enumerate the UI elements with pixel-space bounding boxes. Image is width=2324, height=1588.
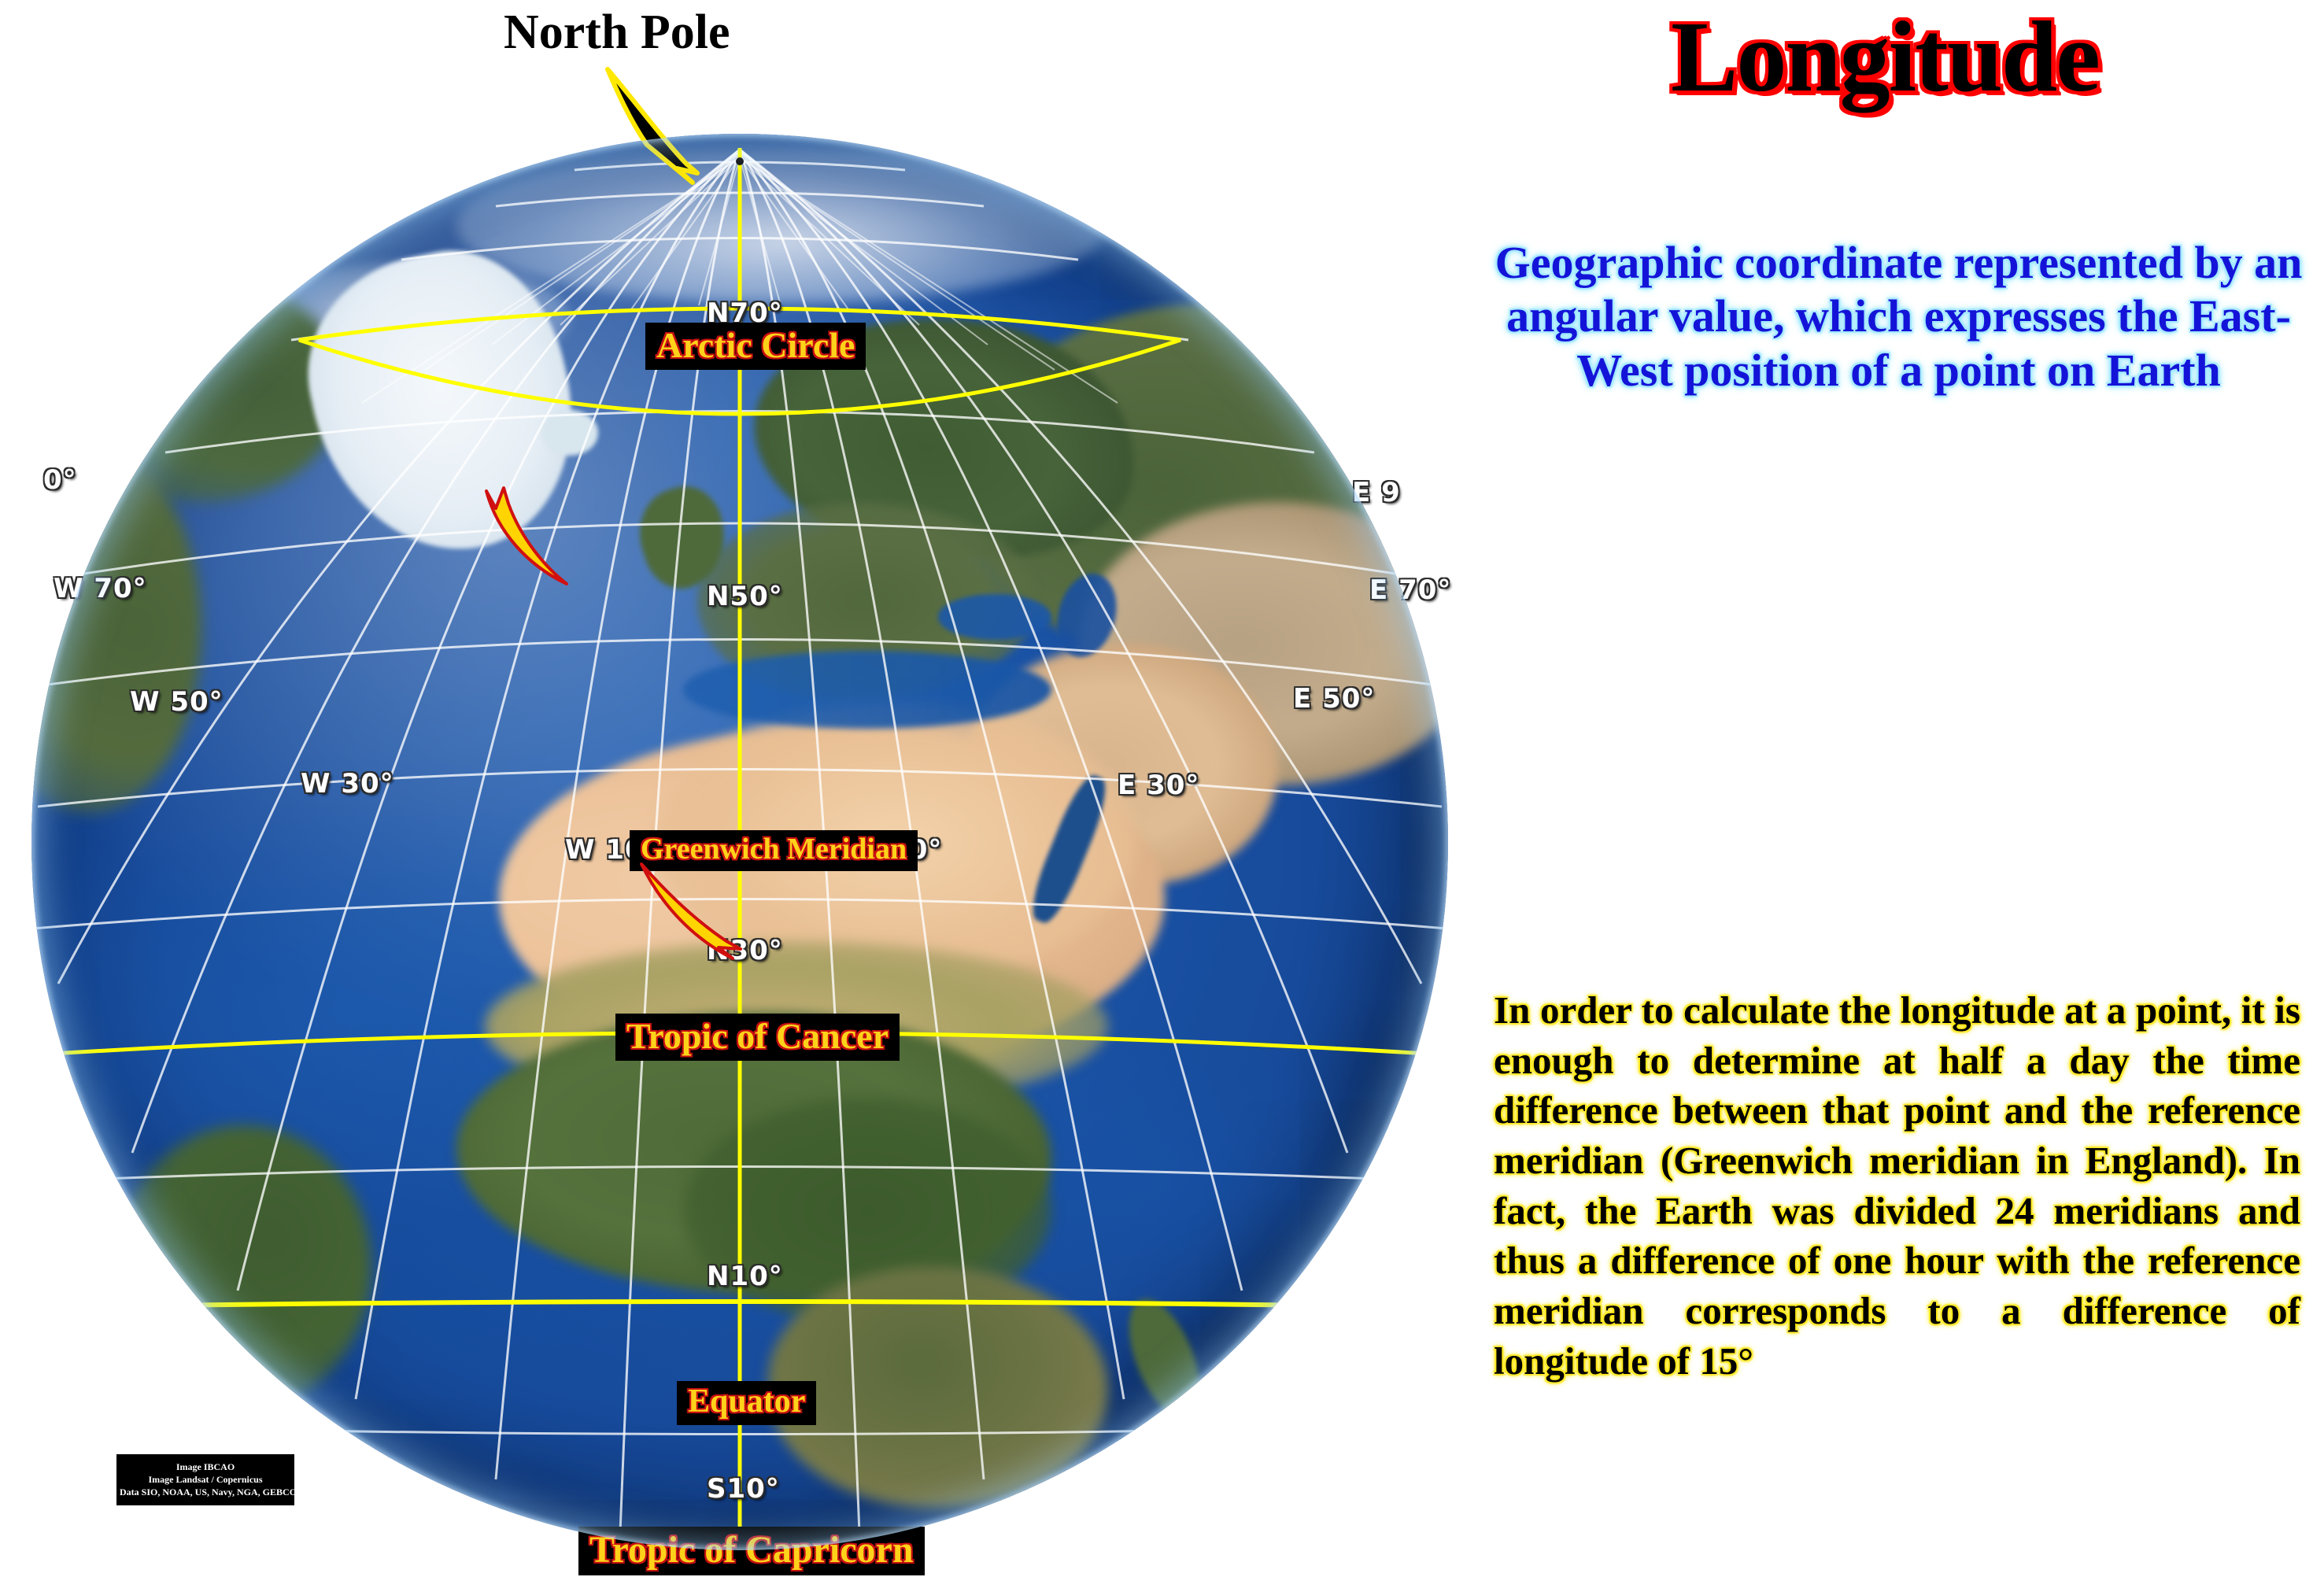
attribution-line-1: Image IBCAO [120, 1461, 291, 1473]
page-title: Longitude [1480, 6, 2290, 107]
north-pole-label: North Pole [504, 5, 730, 61]
north-pole-arrow-icon [598, 63, 787, 189]
iceland-land [541, 410, 598, 456]
tropic-of-capricorn-label: Tropic of Capricorn [578, 1527, 925, 1575]
southern-africa-land [768, 1267, 1108, 1508]
greenwich-arrow-up-icon [472, 480, 582, 590]
image-attribution: Image IBCAO Image Landsat / Copernicus D… [116, 1454, 294, 1505]
latitude-label-n10: N10° [707, 1261, 783, 1292]
longitude-label-e30: E 30° [1118, 770, 1199, 801]
attribution-line-2: Image Landsat / Copernicus [120, 1473, 291, 1486]
longitude-label-w30: W 30° [301, 768, 394, 800]
mediterranean-sea [683, 651, 1051, 729]
attribution-line-3: Data SIO, NOAA, US, Navy, NGA, GEBCO [120, 1486, 291, 1498]
longitude-label-e50: E 50° [1293, 683, 1375, 715]
text-panel: Longitude Geographic coordinate represen… [1480, 0, 2324, 1588]
latitude-label-s10: S10° [707, 1473, 780, 1505]
definition-text: Geographic coordinate represented by an … [1487, 236, 2310, 397]
greenwich-arrow-down-icon [634, 859, 759, 962]
latitude-label-n50: N50° [707, 581, 783, 612]
south-america-land [116, 1125, 371, 1409]
longitude-label-e90: E 9 [1352, 477, 1401, 508]
longitude-label-w50: W 50° [130, 686, 224, 718]
arctic-circle-label: Arctic Circle [645, 323, 866, 370]
longitude-label-e70: E 70° [1369, 574, 1451, 606]
longitude-label-w90: 0° [43, 464, 77, 496]
longitude-label-w70: W 70° [54, 573, 147, 604]
explanation-text: In order to calculate the longitude at a… [1494, 985, 2300, 1387]
tropic-of-cancer-label: Tropic of Cancer [615, 1014, 900, 1061]
equator-label: Equator [677, 1381, 816, 1425]
globe-panel: North Pole 0° W 70° W 50° W 30° W 10° E … [0, 0, 1495, 1588]
black-sea [938, 594, 1051, 640]
